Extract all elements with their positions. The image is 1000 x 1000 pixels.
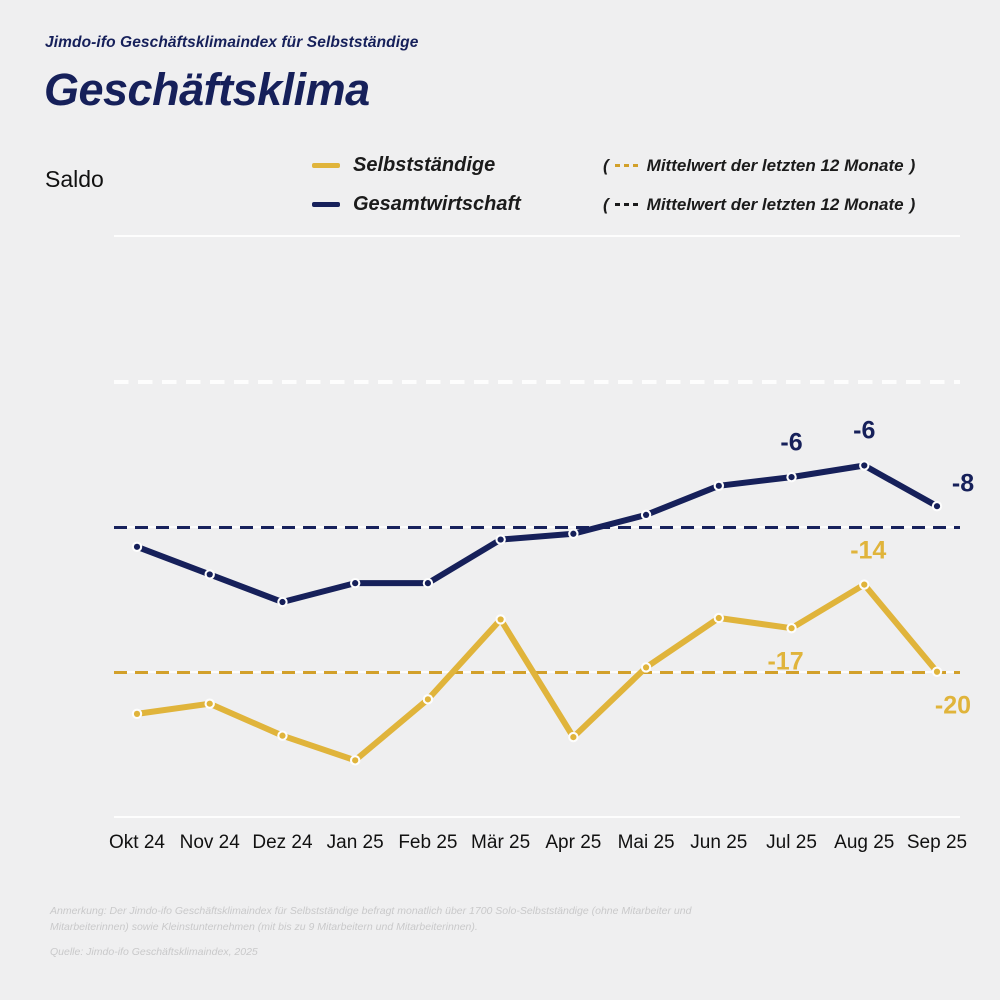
data-point[interactable]: [425, 696, 431, 702]
legend-paren-open-gold: (: [603, 156, 609, 176]
data-point[interactable]: [207, 571, 213, 577]
data-point[interactable]: [716, 483, 722, 489]
y-axis-title: Saldo: [45, 166, 104, 193]
data-point-label: -6: [853, 417, 875, 446]
chart-legend: Selbstständige ( Mittelwert der letzten …: [312, 146, 915, 224]
data-point[interactable]: [352, 757, 358, 763]
data-point[interactable]: [207, 701, 213, 707]
data-point[interactable]: [498, 616, 504, 622]
legend-dash-navy: [615, 203, 641, 206]
legend-paren-close-navy: ): [910, 195, 916, 215]
x-tick-label: Okt 24: [109, 832, 165, 854]
legend-average-text-gold: Mittelwert der letzten 12 Monate: [647, 156, 904, 176]
legend-average-note-selbststaendige: ( Mittelwert der letzten 12 Monate ): [603, 156, 915, 176]
data-point-label: -8: [952, 470, 974, 499]
x-tick-label: Jun 25: [690, 832, 747, 854]
data-point[interactable]: [570, 734, 576, 740]
chart-page: Jimdo-ifo Geschäftsklimaindex für Selbst…: [0, 0, 1000, 1000]
data-point[interactable]: [279, 599, 285, 605]
data-point-label: -6: [780, 429, 802, 458]
data-point[interactable]: [352, 580, 358, 586]
series-line-gesamtwirtschaft: [137, 465, 937, 602]
legend-label-gesamtwirtschaft: Gesamtwirtschaft: [353, 193, 603, 216]
x-tick-label: Apr 25: [545, 832, 601, 854]
x-tick-label: Mai 25: [618, 832, 675, 854]
data-point[interactable]: [788, 474, 794, 480]
data-point[interactable]: [788, 625, 794, 631]
legend-item-selbststaendige[interactable]: Selbstständige ( Mittelwert der letzten …: [312, 146, 915, 185]
data-point[interactable]: [861, 582, 867, 588]
data-point[interactable]: [279, 733, 285, 739]
chart-plot-area: 100-10-20-30-17-14-20-6-6-8: [114, 236, 960, 817]
data-point-label: -20: [935, 691, 971, 720]
x-axis-labels: Okt 24Nov 24Dez 24Jan 25Feb 25Mär 25Apr …: [114, 832, 960, 858]
series-line-selbstständige: [137, 585, 937, 761]
legend-item-gesamtwirtschaft[interactable]: Gesamtwirtschaft ( Mittelwert der letzte…: [312, 185, 915, 224]
x-tick-label: Jan 25: [327, 832, 384, 854]
x-tick-label: Feb 25: [398, 832, 457, 854]
data-point[interactable]: [716, 615, 722, 621]
legend-average-text-navy: Mittelwert der letzten 12 Monate: [647, 195, 904, 215]
legend-paren-open-navy: (: [603, 195, 609, 215]
data-point[interactable]: [134, 544, 140, 550]
data-point-label: -17: [767, 648, 803, 677]
series-canvas: [114, 236, 960, 817]
x-tick-label: Sep 25: [907, 832, 967, 854]
data-point[interactable]: [934, 669, 940, 675]
data-point[interactable]: [498, 536, 504, 542]
data-point[interactable]: [643, 512, 649, 518]
data-point[interactable]: [934, 503, 940, 509]
data-point-label: -14: [850, 536, 886, 565]
data-point[interactable]: [861, 462, 867, 468]
x-tick-label: Mär 25: [471, 832, 530, 854]
data-point[interactable]: [570, 531, 576, 537]
legend-paren-close-gold: ): [910, 156, 916, 176]
data-point[interactable]: [425, 580, 431, 586]
footnote-annotation: Anmerkung: Der Jimdo-ifo Geschäftsklimai…: [50, 903, 770, 936]
legend-swatch-selbststaendige: [312, 163, 340, 168]
x-tick-label: Aug 25: [834, 832, 894, 854]
x-tick-label: Jul 25: [766, 832, 817, 854]
legend-dash-gold: [615, 164, 641, 167]
legend-swatch-gesamtwirtschaft: [312, 202, 340, 207]
footnote-source: Quelle: Jimdo-ifo Geschäftsklimaindex, 2…: [50, 944, 770, 960]
data-point[interactable]: [134, 711, 140, 717]
chart-kicker: Jimdo-ifo Geschäftsklimaindex für Selbst…: [45, 34, 418, 52]
legend-average-note-gesamtwirtschaft: ( Mittelwert der letzten 12 Monate ): [603, 195, 915, 215]
page-title: Geschäftsklima: [44, 64, 370, 116]
x-tick-label: Dez 24: [252, 832, 312, 854]
data-point[interactable]: [643, 664, 649, 670]
x-tick-label: Nov 24: [180, 832, 240, 854]
legend-label-selbststaendige: Selbstständige: [353, 154, 603, 177]
